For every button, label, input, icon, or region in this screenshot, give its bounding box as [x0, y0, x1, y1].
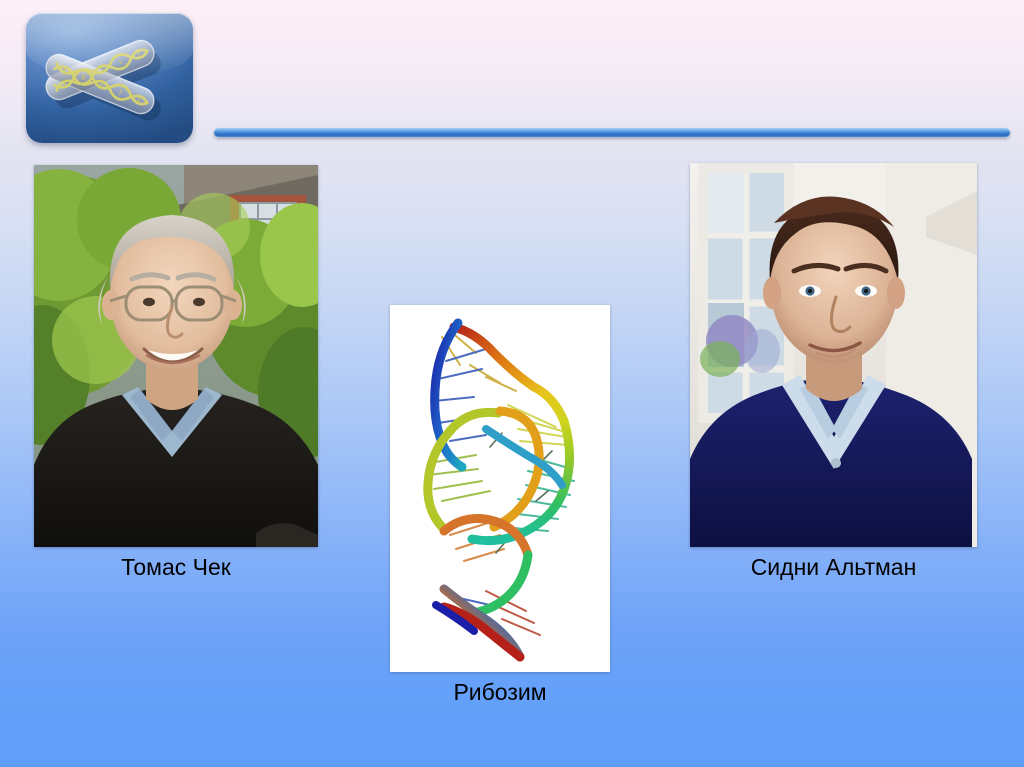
ribozyme-structure [390, 305, 610, 672]
header-divider [214, 128, 1010, 137]
caption-thomas-cech: Томас Чек [34, 553, 318, 581]
presentation-slide: Томас Чек Рибозим Сидни Альтман [0, 0, 1024, 767]
caption-ribozyme: Рибозим [390, 678, 610, 706]
photo-thomas-cech [34, 165, 318, 547]
caption-sidney-altman: Сидни Альтман [690, 553, 977, 581]
chromosome-icon [26, 13, 193, 143]
photo-sidney-altman [690, 163, 977, 547]
chromosome-logo [26, 13, 193, 143]
